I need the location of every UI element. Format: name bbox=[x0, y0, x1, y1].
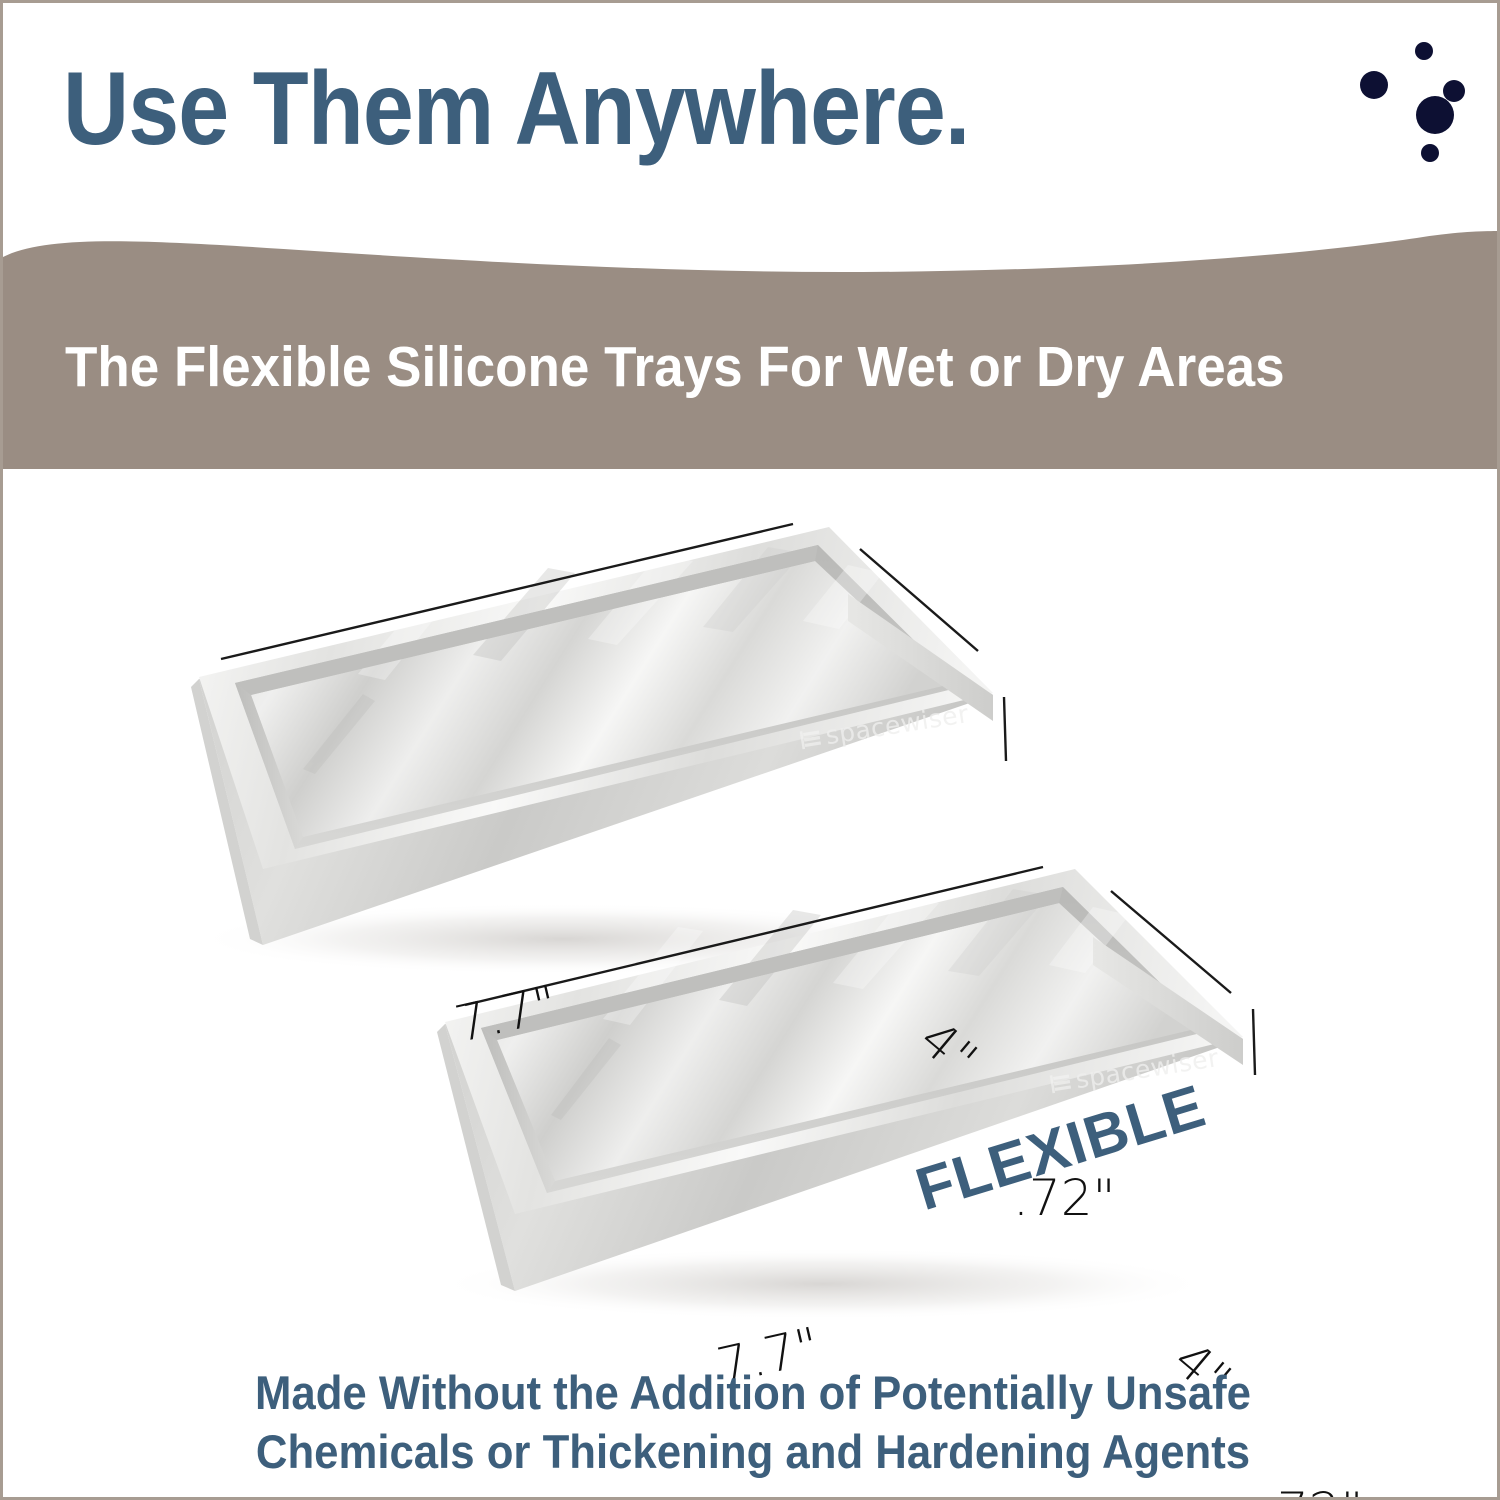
banner-subtitle: The Flexible Silicone Trays For Wet or D… bbox=[65, 334, 1285, 400]
dot-cluster bbox=[1358, 33, 1488, 203]
product-photo-stage: spacewiser bbox=[3, 469, 1500, 1349]
decor-dot-3 bbox=[1443, 80, 1465, 102]
bottom-tray-height-label: .72" bbox=[1261, 1482, 1364, 1500]
subtitle-banner: The Flexible Silicone Trays For Wet or D… bbox=[3, 231, 1500, 469]
decor-dot-5 bbox=[1421, 144, 1439, 162]
decor-dot-2 bbox=[1360, 71, 1388, 99]
bottom-caption: Made Without the Addition of Potentially… bbox=[3, 1363, 1500, 1481]
product-infographic: Use Them Anywhere. The Flexible Silicone… bbox=[0, 0, 1500, 1500]
page-title: Use Them Anywhere. bbox=[63, 55, 969, 164]
bottom-height-dim-line bbox=[1253, 1009, 1255, 1075]
decor-dot-4 bbox=[1416, 96, 1454, 134]
caption-line-1: Made Without the Addition of Potentially… bbox=[56, 1363, 1451, 1422]
caption-line-2: Chemicals or Thickening and Hardening Ag… bbox=[56, 1422, 1451, 1481]
decor-dot-1 bbox=[1415, 42, 1433, 60]
top-tray: spacewiser bbox=[191, 527, 993, 945]
top-height-dim-line bbox=[1004, 697, 1006, 761]
